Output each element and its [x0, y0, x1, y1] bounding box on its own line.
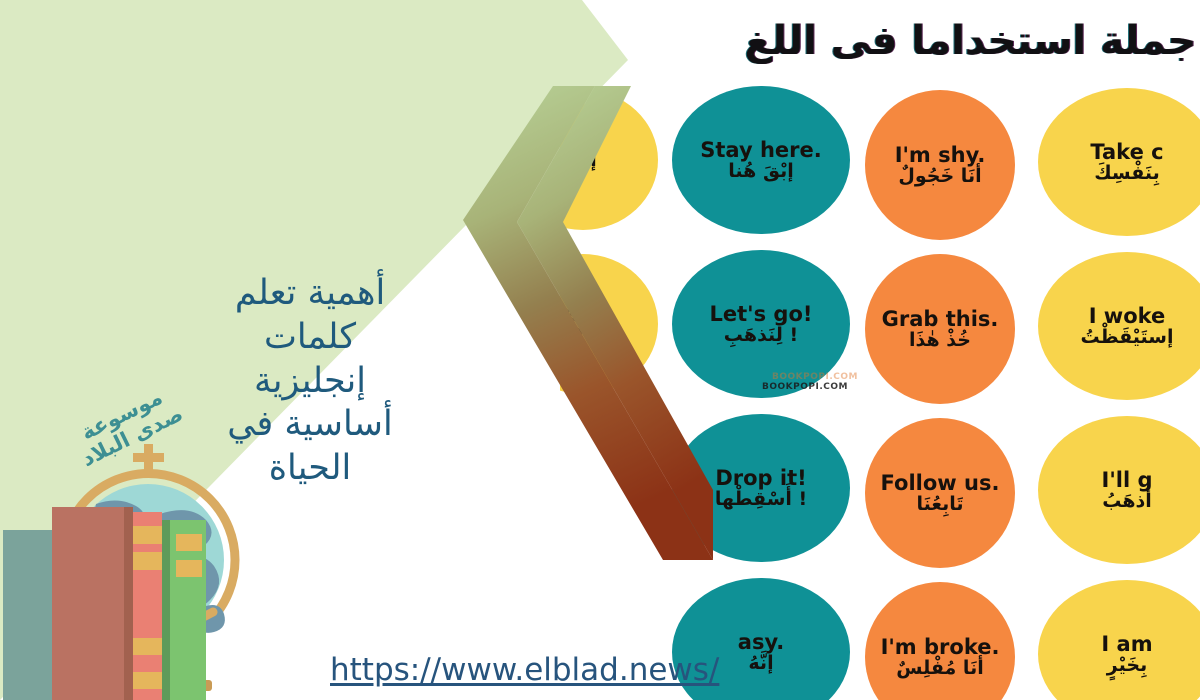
phrase-arabic: إستَيْقَظْتُ [1080, 328, 1173, 348]
phrase-english: Follow us. [881, 472, 1000, 494]
phrase-english: I'm shy. [895, 144, 986, 166]
books-and-globe-illustration [0, 430, 360, 700]
phrase-arabic: تَابِعُنَا [916, 495, 963, 515]
phrase-arabic: بِنَفْسِكَ [1094, 164, 1160, 184]
phrase-arabic: ! أَسْقِطْها [715, 490, 807, 510]
phrase-english: Let's go! [710, 303, 813, 325]
phrase-english: I woke [1089, 305, 1166, 327]
phrase-bubble: Follow us.تَابِعُنَا [865, 418, 1015, 568]
phrase-arabic: بِخَيْرٍ [1107, 656, 1147, 676]
phrase-bubble: I'm shy.أنَا خَجُولٌ [865, 90, 1015, 240]
phrase-arabic: إبْقَ هُنا [728, 162, 793, 182]
watermark-text: BOOKPOPI.COM [762, 382, 848, 392]
phrase-english: I'll g [1102, 469, 1153, 491]
chevron-left-icon [455, 70, 715, 630]
watermark-text: BOOKPOPI.COM [772, 372, 858, 382]
phrase-english: I'm broke. [881, 636, 1000, 658]
headline-line-1: أهمية تعلم [160, 272, 460, 316]
phrase-english: Stay here. [700, 139, 821, 161]
phrase-bubble: I'm broke.أنَا مُفْلِسٌ [865, 582, 1015, 700]
books-icon [3, 507, 206, 700]
headline-line-3: إنجليزية [160, 360, 460, 404]
phrase-arabic: أنَا خَجُولٌ [898, 167, 981, 187]
phrase-bubble: Grab this.خُذْ هٰذَا [865, 254, 1015, 404]
poster-image: مئة جملة استخداما فى اللغ إذهَStay here.… [0, 0, 1200, 700]
phrase-english: Drop it! [715, 467, 806, 489]
headline-line-2: كلمات [160, 316, 460, 360]
phrase-english: I am [1101, 633, 1152, 655]
poster-header: مئة جملة استخداما فى اللغ [560, 4, 1200, 78]
phrase-bubble: Take cبِنَفْسِكَ [1038, 88, 1200, 236]
phrase-bubble: I'll gأذهَبُ [1038, 416, 1200, 564]
phrase-arabic: أنَا مُفْلِسٌ [896, 659, 983, 679]
phrase-bubble: I wokeإستَيْقَظْتُ [1038, 252, 1200, 400]
phrase-arabic: خُذْ هٰذَا [909, 331, 971, 351]
phrase-bubble: I amبِخَيْرٍ [1038, 580, 1200, 700]
phrase-english: Grab this. [882, 308, 999, 330]
phrase-arabic: ! لِنَذهَبِ [724, 326, 798, 346]
phrase-english: Take c [1090, 141, 1163, 163]
poster-header-text: مئة جملة استخداما فى اللغ [744, 18, 1200, 64]
phrase-arabic: إنَّهُ [748, 654, 773, 674]
phrase-arabic: أذهَبُ [1102, 492, 1152, 512]
phrase-english: asy. [738, 631, 784, 653]
site-url-link[interactable]: https://www.elblad.news/ [330, 652, 719, 688]
